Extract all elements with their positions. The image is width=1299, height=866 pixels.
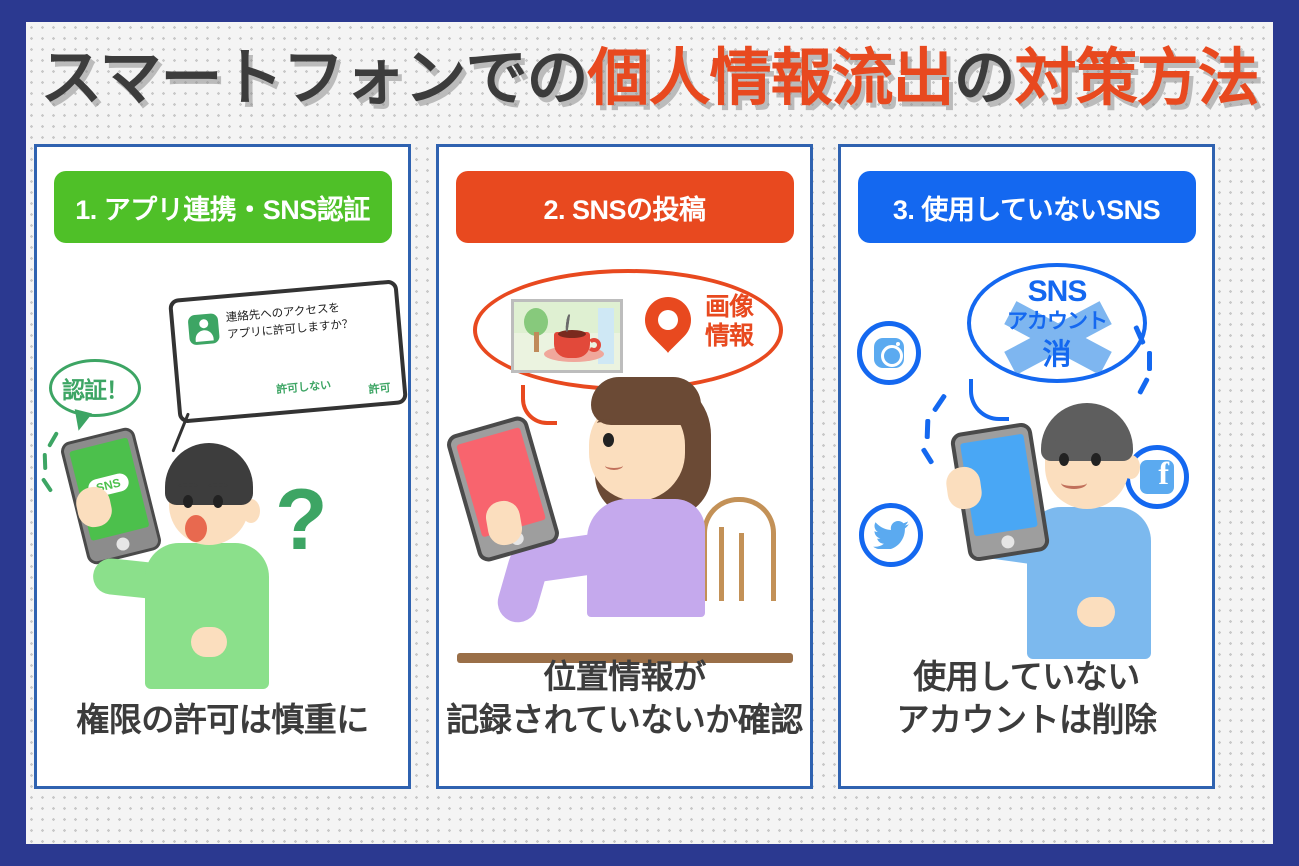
phone-home-button [1000, 534, 1015, 549]
card-1-caption: 権限の許可は慎重に [37, 698, 408, 742]
card-2-header: 2. SNSの投稿 [456, 171, 794, 243]
deny-button[interactable]: 許可しない [276, 376, 332, 397]
card-sns-post: 2. SNSの投稿 [436, 144, 813, 789]
auth-speech-bubble-label: 認証！ [62, 371, 128, 405]
instagram-icon [857, 321, 921, 385]
bubble-line-delete: 消 [971, 331, 1143, 373]
person-eye [183, 495, 193, 508]
delete-account-thought-bubble: SNS アカウント 消 [967, 263, 1147, 383]
chair-slat [719, 527, 724, 601]
chair-slat [739, 533, 744, 601]
person-mouth [185, 515, 207, 542]
page-title-part-4: 対策方法 [1015, 44, 1259, 113]
image-info-label: 画像 情報 [705, 293, 753, 351]
thought-bubble-tail [969, 379, 1009, 421]
person-eye [1059, 453, 1069, 466]
person-eye [603, 433, 614, 447]
person-eyebrow [597, 419, 619, 427]
bubble-line-sns: SNS [971, 275, 1143, 309]
phone-home-button [115, 536, 131, 552]
page-title-part-2: 個人情報流出 [588, 44, 954, 113]
image-info-thought-bubble: 画像 情報 [473, 269, 783, 391]
person-hand [1077, 597, 1115, 627]
card-2-caption: 位置情報が 記録されていないか確認 [439, 655, 810, 742]
facebook-f-glyph [1140, 460, 1174, 494]
person-eye [1091, 453, 1101, 466]
card-unused-sns: 3. 使用していないSNS SNS アカウント 消 [838, 144, 1215, 789]
location-pin-icon [635, 287, 700, 352]
page-title: スマートフォンでの個人情報流出の対策方法 [26, 48, 1273, 110]
card-1-illustration: 連絡先へのアクセスを アプリに許可しますか？ 許可しない 許可 認証！ SNS [37, 255, 408, 685]
person-hair [1041, 403, 1133, 461]
sparkle-line-icon [1137, 377, 1150, 395]
infographic-root: スマートフォンでの個人情報流出の対策方法 1. アプリ連携・SNS認証 連絡先へ… [0, 0, 1299, 866]
coffee-surface [558, 330, 586, 338]
question-mark-icon: ? [275, 477, 328, 563]
card-3-header: 3. 使用していないSNS [858, 171, 1196, 243]
person-body [145, 543, 269, 689]
photo-thumbnail [511, 299, 623, 373]
person-mouth [605, 461, 623, 470]
person-hair-front [591, 377, 701, 425]
card-2-illustration: 画像 情報 [439, 255, 810, 685]
infographic-canvas: スマートフォンでの個人情報流出の対策方法 1. アプリ連携・SNS認証 連絡先へ… [26, 22, 1273, 844]
sparkle-line-icon [47, 431, 59, 448]
sparkle-line-icon [932, 393, 947, 412]
card-3-caption: 使用していない アカウントは削除 [841, 655, 1212, 742]
tree-trunk [534, 332, 539, 352]
person-hand [191, 627, 227, 657]
card-1-header-label: 1. アプリ連携・SNS認証 [75, 188, 370, 227]
card-app-permission: 1. アプリ連携・SNS認証 連絡先へのアクセスを アプリに許可しますか？ 許可… [34, 144, 411, 789]
contact-avatar-icon [187, 313, 220, 346]
person-eyebrow [208, 483, 228, 490]
twitter-icon [859, 503, 923, 567]
permission-dialog-text: 連絡先へのアクセスを アプリに許可しますか？ [225, 296, 389, 344]
sparkle-line-icon [1147, 351, 1152, 371]
person-mouth [1061, 477, 1087, 489]
permission-dialog: 連絡先へのアクセスを アプリに許可しますか？ 許可しない 許可 [168, 279, 408, 424]
person-hair [165, 443, 253, 505]
card-3-illustration: SNS アカウント 消 [841, 255, 1212, 685]
card-1-header: 1. アプリ連携・SNS認証 [54, 171, 392, 243]
sparkle-line-icon [41, 477, 53, 493]
auth-speech-bubble: 認証！ [49, 359, 141, 417]
person-eyebrow [178, 483, 198, 490]
card-3-header-label: 3. 使用していないSNS [893, 188, 1160, 227]
card-2-header-label: 2. SNSの投稿 [543, 188, 705, 227]
person-eyebrow [1086, 439, 1106, 447]
page-title-part-1: スマートフォンでの [40, 44, 587, 113]
instagram-camera-glyph [874, 338, 904, 368]
thought-bubble-tail [521, 385, 557, 425]
page-title-part-3: の [954, 44, 1015, 113]
twitter-bird-glyph [873, 521, 909, 549]
smartphone-green-screen: SNS [59, 426, 163, 567]
person-eyebrow [1053, 439, 1073, 447]
allow-button[interactable]: 許可 [368, 379, 391, 397]
sparkle-line-icon [921, 447, 935, 465]
sparkle-line-icon [925, 419, 931, 439]
person-eye [213, 495, 223, 508]
sparkle-line-icon [43, 453, 48, 470]
